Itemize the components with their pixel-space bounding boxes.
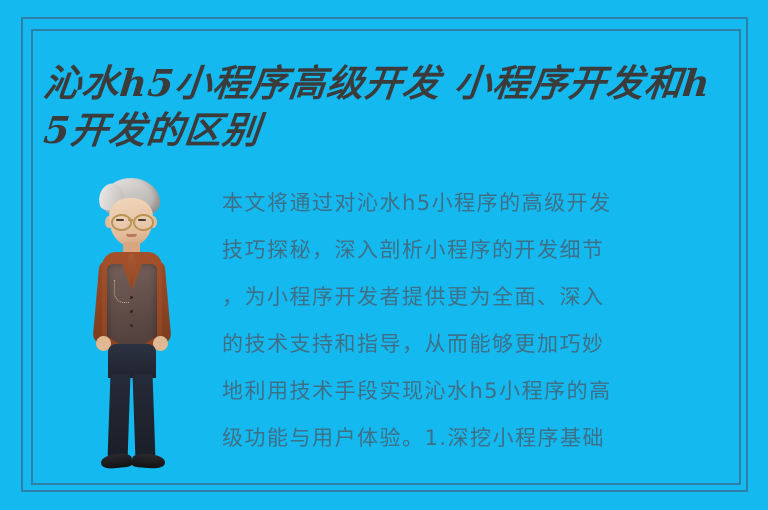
banner-body-text: 本文将通过对沁水h5小程序的高级开发 技巧探秘，深入剖析小程序的开发细节 ，为小… bbox=[222, 180, 722, 462]
body-line-5: 地利用技术手段实现沁水h5小程序的高 bbox=[222, 368, 722, 415]
body-line-4: 的技术支持和指导，从而能够更加巧妙 bbox=[222, 321, 722, 368]
avatar-shoe-left bbox=[100, 452, 132, 469]
body-line-1: 本文将通过对沁水h5小程序的高级开发 bbox=[222, 180, 722, 227]
avatar-eye-left bbox=[116, 219, 124, 221]
avatar-eye-right bbox=[138, 219, 146, 221]
avatar-leg-left bbox=[108, 374, 131, 461]
body-line-6: 级功能与用户体验。1.深挖小程序基础 bbox=[222, 415, 722, 462]
glasses-bridge-icon bbox=[128, 219, 133, 221]
avatar-vest-button-2 bbox=[130, 310, 133, 313]
avatar-leg-right bbox=[133, 374, 156, 461]
character-illustration bbox=[76, 178, 188, 478]
glasses-lens-right-icon bbox=[133, 214, 154, 231]
avatar-mouth bbox=[126, 234, 137, 237]
body-line-2: 技巧探秘，深入剖析小程序的开发细节 bbox=[222, 227, 722, 274]
title-line-2: 5开发的区别 bbox=[42, 107, 737, 154]
article-banner: 沁水h5小程序高级开发 小程序开发和h 5开发的区别 本文将通过对沁水h5小程序… bbox=[0, 0, 768, 510]
avatar-vest-button-3 bbox=[130, 324, 133, 327]
avatar-vest-button-1 bbox=[130, 296, 133, 299]
avatar-watch-chain bbox=[114, 280, 129, 303]
banner-title: 沁水h5小程序高级开发 小程序开发和h 5开发的区别 bbox=[44, 60, 734, 154]
body-line-3: ，为小程序开发者提供更为全面、深入 bbox=[222, 274, 722, 321]
glasses-lens-left-icon bbox=[111, 214, 132, 231]
title-line-1: 沁水h5小程序高级开发 小程序开发和h bbox=[42, 60, 737, 107]
avatar-shoe-right bbox=[132, 453, 166, 469]
